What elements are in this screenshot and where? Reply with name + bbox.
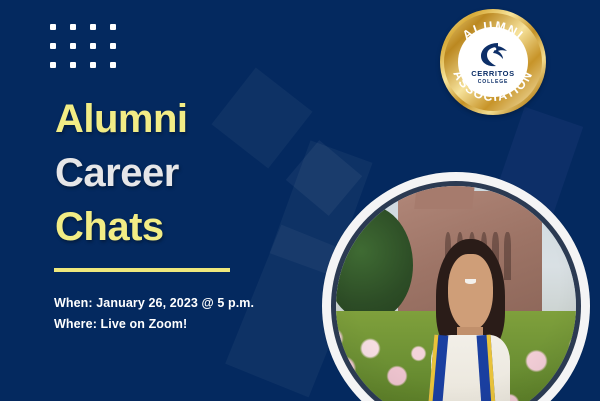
speaker-photo bbox=[336, 186, 576, 401]
dot bbox=[110, 62, 116, 68]
dot bbox=[50, 24, 56, 30]
dot bbox=[70, 62, 76, 68]
dot bbox=[90, 43, 96, 49]
event-details: When: January 26, 2023 @ 5 p.m. Where: L… bbox=[54, 293, 254, 334]
dot bbox=[110, 24, 116, 30]
alumni-career-chats-poster: Alumni Career Chats When: January 26, 20… bbox=[0, 0, 600, 401]
seal-center: CERRITOS COLLEGE bbox=[458, 27, 528, 97]
photo-vignette bbox=[336, 186, 576, 401]
seal-college-sub: COLLEGE bbox=[478, 79, 508, 85]
title-line-career: Career bbox=[55, 153, 188, 193]
event-when: When: January 26, 2023 @ 5 p.m. bbox=[54, 293, 254, 314]
seal-college-name: CERRITOS bbox=[471, 70, 514, 79]
event-where: Where: Live on Zoom! bbox=[54, 314, 254, 335]
dot-grid-icon bbox=[50, 24, 116, 68]
dot bbox=[110, 43, 116, 49]
title-line-chats: Chats bbox=[55, 207, 188, 247]
title-line-alumni: Alumni bbox=[55, 99, 188, 139]
alumni-association-seal: ALUMNI ASSOCIATION CERRITOS COLLEGE bbox=[440, 9, 546, 115]
dot bbox=[90, 62, 96, 68]
dot bbox=[50, 62, 56, 68]
falcon-c-logo-icon bbox=[476, 41, 510, 69]
dot bbox=[50, 43, 56, 49]
dot bbox=[70, 43, 76, 49]
yellow-divider bbox=[54, 268, 230, 272]
photo-inner-ring bbox=[331, 181, 581, 401]
page-title: Alumni Career Chats bbox=[55, 99, 188, 261]
dot bbox=[70, 24, 76, 30]
speaker-photo-frame bbox=[322, 172, 590, 401]
dot bbox=[90, 24, 96, 30]
